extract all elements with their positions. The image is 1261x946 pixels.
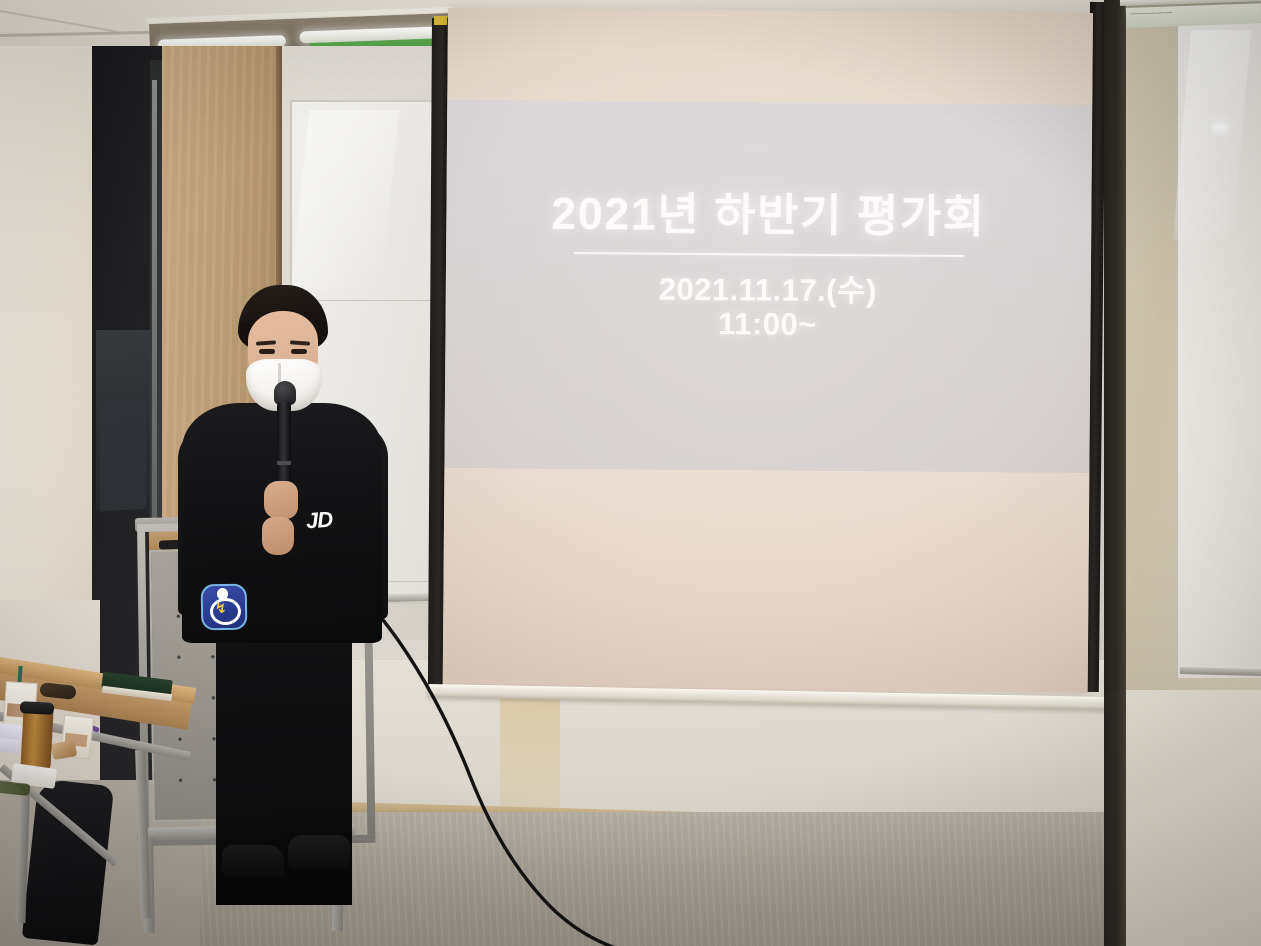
emblem-running-figure: ↯ xyxy=(215,601,230,615)
sweatshirt-jd-logo: JD xyxy=(305,506,347,535)
shoe-right xyxy=(288,835,350,869)
hand-lower xyxy=(262,517,294,555)
photo-scene: 2021년 하반기 평가회 2021.11.17.(수) 11:00~ ――――… xyxy=(0,0,1261,946)
hand-upper xyxy=(264,481,298,519)
eye-left xyxy=(259,349,275,354)
eye-right xyxy=(291,349,307,354)
shoe-left xyxy=(222,845,284,877)
microphone-ring xyxy=(277,461,291,465)
emblem-head-shape xyxy=(217,588,228,600)
